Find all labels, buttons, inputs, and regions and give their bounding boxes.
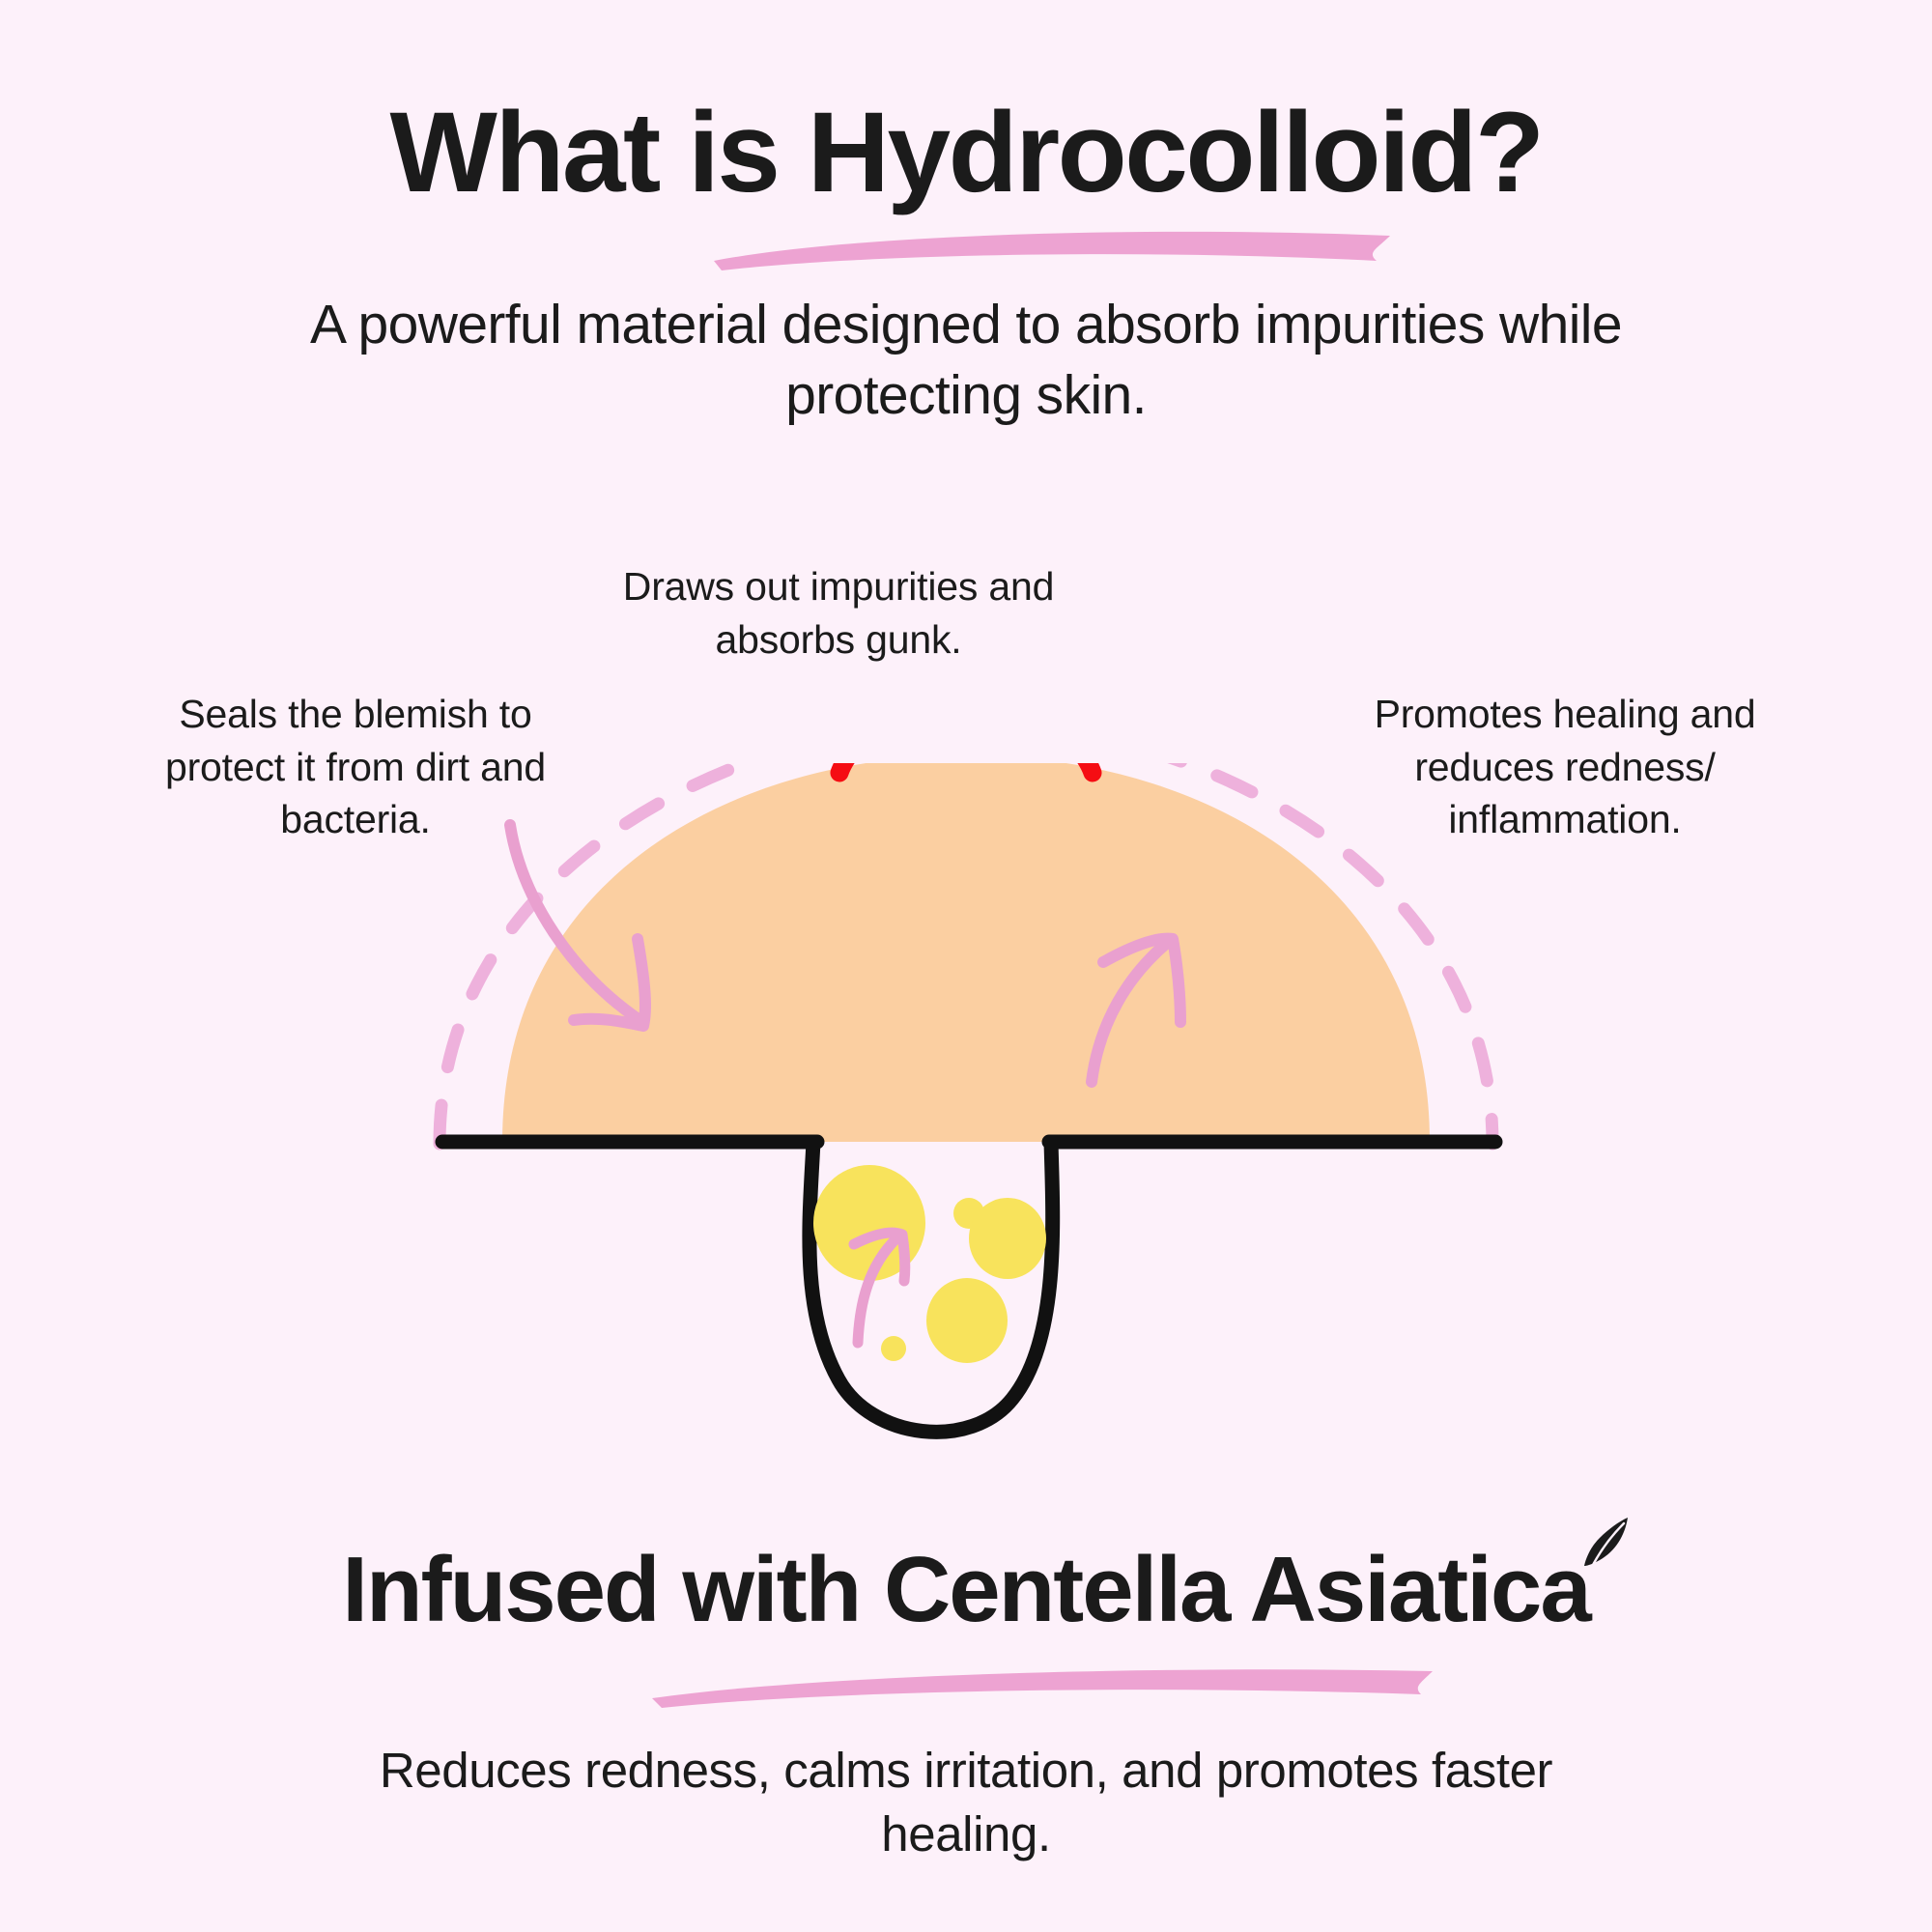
footer-subtitle: Reduces redness, calms irritation, and p… bbox=[338, 1739, 1594, 1867]
gunk-blob-medium-right bbox=[969, 1198, 1046, 1279]
footer-block: Infused with Centella Asiatica bbox=[0, 1542, 1932, 1639]
footer-underline-stroke bbox=[642, 1660, 1444, 1710]
footer-title-text: Infused with Centella Asiatica bbox=[342, 1538, 1589, 1641]
infographic-canvas: What is Hydrocolloid? A powerful materia… bbox=[0, 0, 1932, 1932]
gunk-blob-medium-bottom bbox=[926, 1278, 1008, 1363]
page-title: What is Hydrocolloid? bbox=[0, 93, 1932, 213]
page-subtitle: A powerful material designed to absorb i… bbox=[290, 290, 1642, 431]
footer-title: Infused with Centella Asiatica bbox=[342, 1542, 1589, 1639]
title-underline-stroke bbox=[700, 220, 1406, 274]
leaf-icon bbox=[1580, 1515, 1633, 1575]
gunk-blob-dot bbox=[881, 1336, 906, 1361]
header-block: What is Hydrocolloid? bbox=[0, 93, 1932, 213]
hydrocolloid-diagram bbox=[0, 763, 1932, 1497]
callout-draws-impurities: Draws out impurities and absorbs gunk. bbox=[618, 560, 1059, 666]
